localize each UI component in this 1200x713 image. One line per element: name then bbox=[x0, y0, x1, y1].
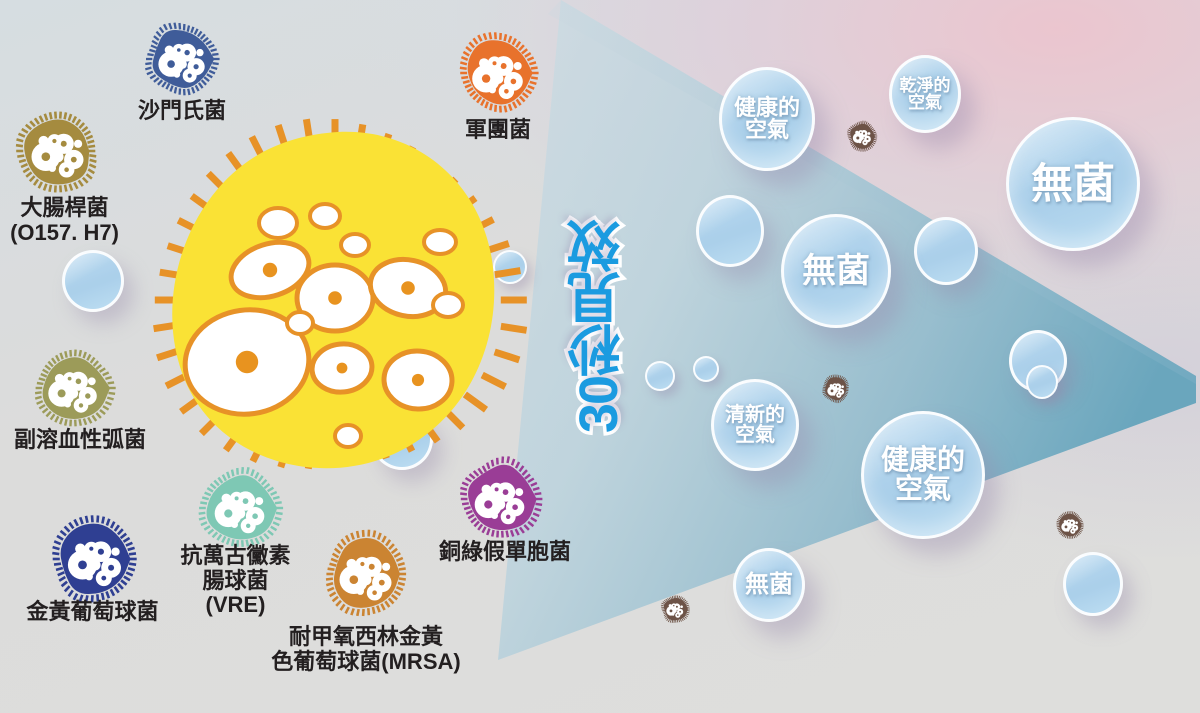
germ-vibrio bbox=[30, 345, 116, 431]
infographic-poster: 沙門氏菌 大腸桿菌 (O157. H7) 軍團菌 副溶血性弧菌 金黃葡萄球菌 抗… bbox=[0, 0, 1200, 713]
germ-mrsa bbox=[320, 528, 412, 620]
germ-label-ecoli: 大腸桿菌 (O157. H7) bbox=[2, 196, 127, 245]
bubble-healthy-air-2-label: 健康的 空氣 bbox=[881, 446, 965, 503]
micro-germ-2 bbox=[821, 374, 851, 404]
bubble-sterile-2: 無菌 bbox=[781, 214, 891, 328]
micro-germ-4 bbox=[660, 594, 690, 624]
bubble-sterile-2-label: 無菌 bbox=[802, 254, 870, 289]
germ-label-pseudomonas: 銅綠假單胞菌 bbox=[425, 540, 585, 565]
bubble-clean-air: 乾淨的 空氣 bbox=[889, 55, 961, 133]
germ-staph-aureus bbox=[48, 512, 142, 606]
bubble-sterile-3-label: 無菌 bbox=[745, 573, 793, 597]
plain-bubble-6 bbox=[693, 356, 719, 382]
germ-label-vibrio: 副溶血性弧菌 bbox=[0, 428, 160, 453]
slogan-text: 30秒見效 bbox=[559, 221, 638, 433]
bubble-sterile-1: 無菌 bbox=[1006, 117, 1140, 251]
bubble-sterile-1-label: 無菌 bbox=[1031, 163, 1115, 206]
plain-bubble-10 bbox=[1026, 365, 1058, 399]
germ-label-vre: 抗萬古黴素 腸球菌(VRE) bbox=[173, 544, 298, 618]
germ-ecoli bbox=[12, 105, 104, 197]
germ-label-staph-aureus: 金黃葡萄球菌 bbox=[10, 600, 175, 625]
bubble-fresh-air-label: 清新的 空氣 bbox=[725, 405, 785, 446]
germ-label-legionella: 軍團菌 bbox=[438, 118, 558, 143]
bubble-fresh-air: 清新的 空氣 bbox=[711, 379, 799, 471]
germ-pseudomonas bbox=[456, 455, 544, 543]
slogan-30-seconds: 30秒見效 bbox=[566, 192, 630, 462]
plain-bubble-5 bbox=[696, 195, 764, 267]
bubble-clean-air-label: 乾淨的 空氣 bbox=[900, 77, 951, 112]
bubble-healthy-air-1: 健康的 空氣 bbox=[719, 67, 815, 171]
germ-label-salmonella: 沙門氏菌 bbox=[122, 99, 242, 124]
germ-label-mrsa: 耐甲氧西林金黃 色葡萄球菌(MRSA) bbox=[266, 625, 466, 674]
micro-germ-3 bbox=[1055, 510, 1085, 540]
germ-legionella bbox=[453, 28, 543, 118]
micro-germ-1 bbox=[846, 120, 878, 152]
big-yellow-germ bbox=[150, 118, 520, 483]
plain-bubble-7 bbox=[914, 217, 978, 285]
plain-bubble-9 bbox=[1063, 552, 1123, 616]
germ-vre bbox=[196, 464, 284, 552]
bubble-healthy-air-1-label: 健康的 空氣 bbox=[734, 97, 800, 142]
plain-bubble-1 bbox=[62, 250, 124, 312]
bubble-healthy-air-2: 健康的 空氣 bbox=[861, 411, 985, 539]
bubble-sterile-3: 無菌 bbox=[733, 548, 805, 622]
plain-bubble-4 bbox=[645, 361, 675, 391]
germ-salmonella bbox=[141, 18, 223, 100]
